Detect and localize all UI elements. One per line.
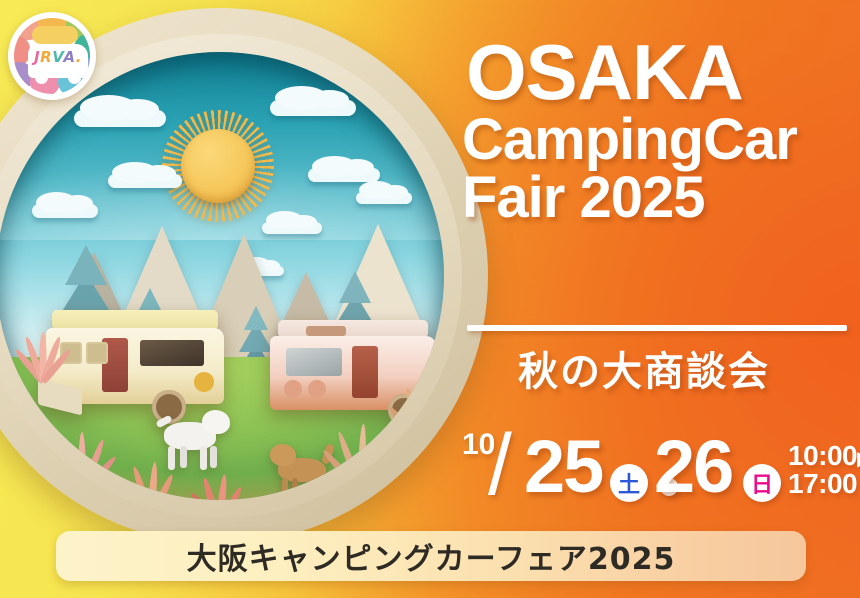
title-line-fair-2025: Fair 2025 (462, 170, 854, 227)
dog-leg (210, 446, 217, 468)
paper-plant (394, 382, 444, 448)
paper-plant (20, 330, 66, 382)
van-door (352, 346, 378, 398)
dog-leg (282, 478, 288, 500)
date-day-25: 25 (524, 430, 602, 504)
cloud-icon (32, 204, 98, 218)
title-line-campingcar: CampingCar (462, 112, 854, 169)
van-window (140, 340, 204, 366)
date-slash: / (488, 422, 512, 508)
paper-plant (330, 422, 392, 492)
title-divider (467, 325, 847, 331)
date-day-26: 26 (654, 430, 732, 504)
time-open-row: 10:00▶ (788, 442, 860, 470)
van-vent (306, 326, 346, 336)
van-roof (52, 310, 218, 330)
van-vent (86, 342, 108, 364)
logo-letter-v: V (52, 48, 63, 66)
van-lamp (308, 380, 326, 398)
subtitle: 秋の大商談会 (518, 339, 770, 397)
dog-leg (312, 478, 318, 500)
logo-wordmark: JRVA. (28, 48, 88, 66)
dog-leg (180, 446, 187, 468)
logo-letter-a: A (63, 48, 75, 66)
event-poster: JRVA. OSAKA CampingCar Fair 2025 秋の大商談会 … (0, 0, 860, 598)
scene-disc (0, 52, 444, 500)
logo-letter-r: R (40, 48, 52, 66)
time-close: 17:00 (788, 470, 860, 498)
cloud-icon (74, 110, 166, 127)
paper-plant (192, 472, 246, 500)
jrva-logo[interactable]: JRVA. (8, 12, 96, 100)
dog-leg (292, 478, 298, 498)
cloud-icon (108, 174, 182, 188)
cloud-icon (356, 192, 412, 204)
van-window (286, 348, 342, 376)
van-lamp (194, 372, 214, 392)
paper-plant (124, 460, 178, 500)
dog-leg (200, 446, 207, 470)
title-line-osaka: OSAKA (466, 34, 854, 110)
headline-block: OSAKA CampingCar Fair 2025 秋の大商談会 (462, 34, 854, 227)
time-open: 10:00 (788, 440, 857, 471)
sun-core (181, 129, 255, 203)
dog-head (202, 410, 230, 434)
logo-letter-dot: . (76, 48, 82, 66)
date-dow-sunday: 日 (743, 464, 781, 502)
van-lamp (284, 380, 302, 398)
sun-icon (162, 110, 274, 222)
logo-mosaic: JRVA. (14, 18, 90, 94)
cloud-icon (270, 100, 356, 116)
cloud-icon (308, 168, 380, 182)
banner-text: 大阪キャンピングカーフェア2025 (187, 534, 676, 578)
event-hours: 10:00▶ 17:00 (788, 442, 860, 498)
event-name-banner: 大阪キャンピングカーフェア2025 (56, 531, 806, 581)
dog-leg (321, 478, 327, 498)
paper-plant (54, 430, 110, 494)
dog-head (270, 444, 296, 466)
